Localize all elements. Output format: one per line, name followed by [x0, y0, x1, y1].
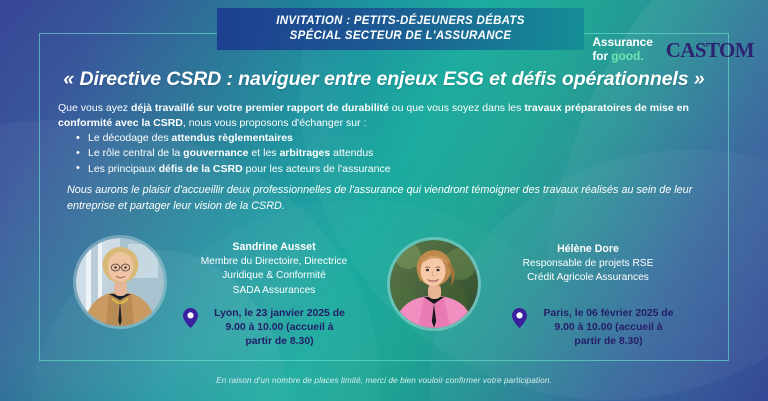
bullet-1-pre: Le rôle central de la: [88, 147, 183, 159]
speaker-name: Hélène Dore: [488, 242, 688, 256]
bullet-0-bold: attendus règlementaires: [172, 132, 293, 144]
speaker-role-line-3: SADA Assurances: [174, 284, 374, 298]
bullet-1-post-2: attendus: [330, 147, 373, 159]
assurance-logo-for: for: [592, 49, 611, 63]
brand-logo-group: Assurance for good. CASTOM: [592, 36, 754, 63]
location-text-paris: Paris, le 06 février 2025 de 9.00 à 10.0…: [532, 307, 685, 349]
event-title: « Directive CSRD : naviguer entre enjeux…: [0, 68, 768, 91]
intro-paragraph: Que vous ayez déjà travaillé sur votre p…: [58, 101, 713, 131]
speaker-info-1: Hélène Dore Responsable de projets RSE C…: [488, 242, 688, 286]
speaker-role-line-1: Membre du Directoire, Directrice: [174, 255, 374, 269]
assurance-logo-good: good: [611, 49, 640, 63]
bullet-2-post: pour les acteurs de l'assurance: [243, 163, 391, 175]
list-item: Le décodage des attendus règlementaires: [74, 131, 391, 146]
avatar: [390, 240, 478, 328]
location-block-lyon: Lyon, le 23 janvier 2025 de 9.00 à 10.00…: [183, 307, 356, 349]
list-item: Le rôle central de la gouvernance et les…: [74, 146, 391, 161]
location-line-3: partir de 8.30): [532, 335, 685, 349]
intro-seg-3: , nous vous proposons d'échanger sur :: [183, 117, 367, 129]
speaker-info-0: Sandrine Ausset Membre du Directoire, Di…: [174, 240, 374, 298]
background-wave-5: [120, 200, 600, 401]
note-paragraph: Nous aurons le plaisir d'accueillir deux…: [67, 182, 707, 214]
portrait-helene-dore: [390, 240, 478, 328]
speaker-name: Sandrine Ausset: [174, 240, 374, 254]
topics-list: Le décodage des attendus règlementaires …: [74, 131, 391, 177]
bullet-1-bold: gouvernance: [183, 147, 248, 159]
location-line-3: partir de 8.30): [203, 335, 356, 349]
bullet-2-pre: Les principaux: [88, 163, 159, 175]
location-line-1: Lyon, le 23 janvier 2025 de: [203, 307, 356, 321]
bullet-1-post: et les: [249, 147, 280, 159]
assurance-for-good-logo: Assurance for good.: [592, 36, 652, 63]
location-line-2: 9.00 à 10.00 (accueil à: [532, 321, 685, 335]
header-banner: INVITATION : PETITS-DÉJEUNERS DÉBATS SPÉ…: [217, 8, 584, 50]
portrait-sandrine-ausset: [76, 238, 164, 326]
location-line-1: Paris, le 06 février 2025 de: [532, 307, 685, 321]
list-item: Les principaux défis de la CSRD pour les…: [74, 162, 391, 177]
footer-note: En raison d'un nombre de places limité, …: [0, 376, 768, 385]
header-line-2: SPÉCIAL SECTEUR DE L'ASSURANCE: [290, 29, 512, 44]
assurance-logo-dot: .: [640, 49, 643, 63]
location-block-paris: Paris, le 06 février 2025 de 9.00 à 10.0…: [512, 307, 685, 349]
intro-bold-1: déjà travaillé sur votre premier rapport…: [131, 102, 389, 114]
bullet-0-pre: Le décodage des: [88, 132, 172, 144]
speaker-role-line-2: Juridique & Conformité: [174, 269, 374, 283]
bullet-1-bold-2: arbitrages: [279, 147, 330, 159]
assurance-logo-line-2: for good.: [592, 50, 652, 64]
avatar: [76, 238, 164, 326]
assurance-logo-line-1: Assurance: [592, 36, 652, 50]
speaker-role-line-1: Responsable de projets RSE: [488, 257, 688, 271]
header-line-1: INVITATION : PETITS-DÉJEUNERS DÉBATS: [276, 14, 524, 29]
speaker-role-line-2: Crédit Agricole Assurances: [488, 271, 688, 285]
map-pin-icon: [512, 308, 527, 328]
location-line-2: 9.00 à 10.00 (accueil à: [203, 321, 356, 335]
invitation-banner: INVITATION : PETITS-DÉJEUNERS DÉBATS SPÉ…: [0, 0, 768, 401]
intro-seg-1: Que vous ayez: [58, 102, 131, 114]
bullet-2-bold: défis de la CSRD: [159, 163, 243, 175]
castom-logo: CASTOM: [666, 39, 754, 61]
map-pin-icon: [183, 308, 198, 328]
location-text-lyon: Lyon, le 23 janvier 2025 de 9.00 à 10.00…: [203, 307, 356, 349]
intro-seg-2: ou que vous soyez dans les: [389, 102, 524, 114]
